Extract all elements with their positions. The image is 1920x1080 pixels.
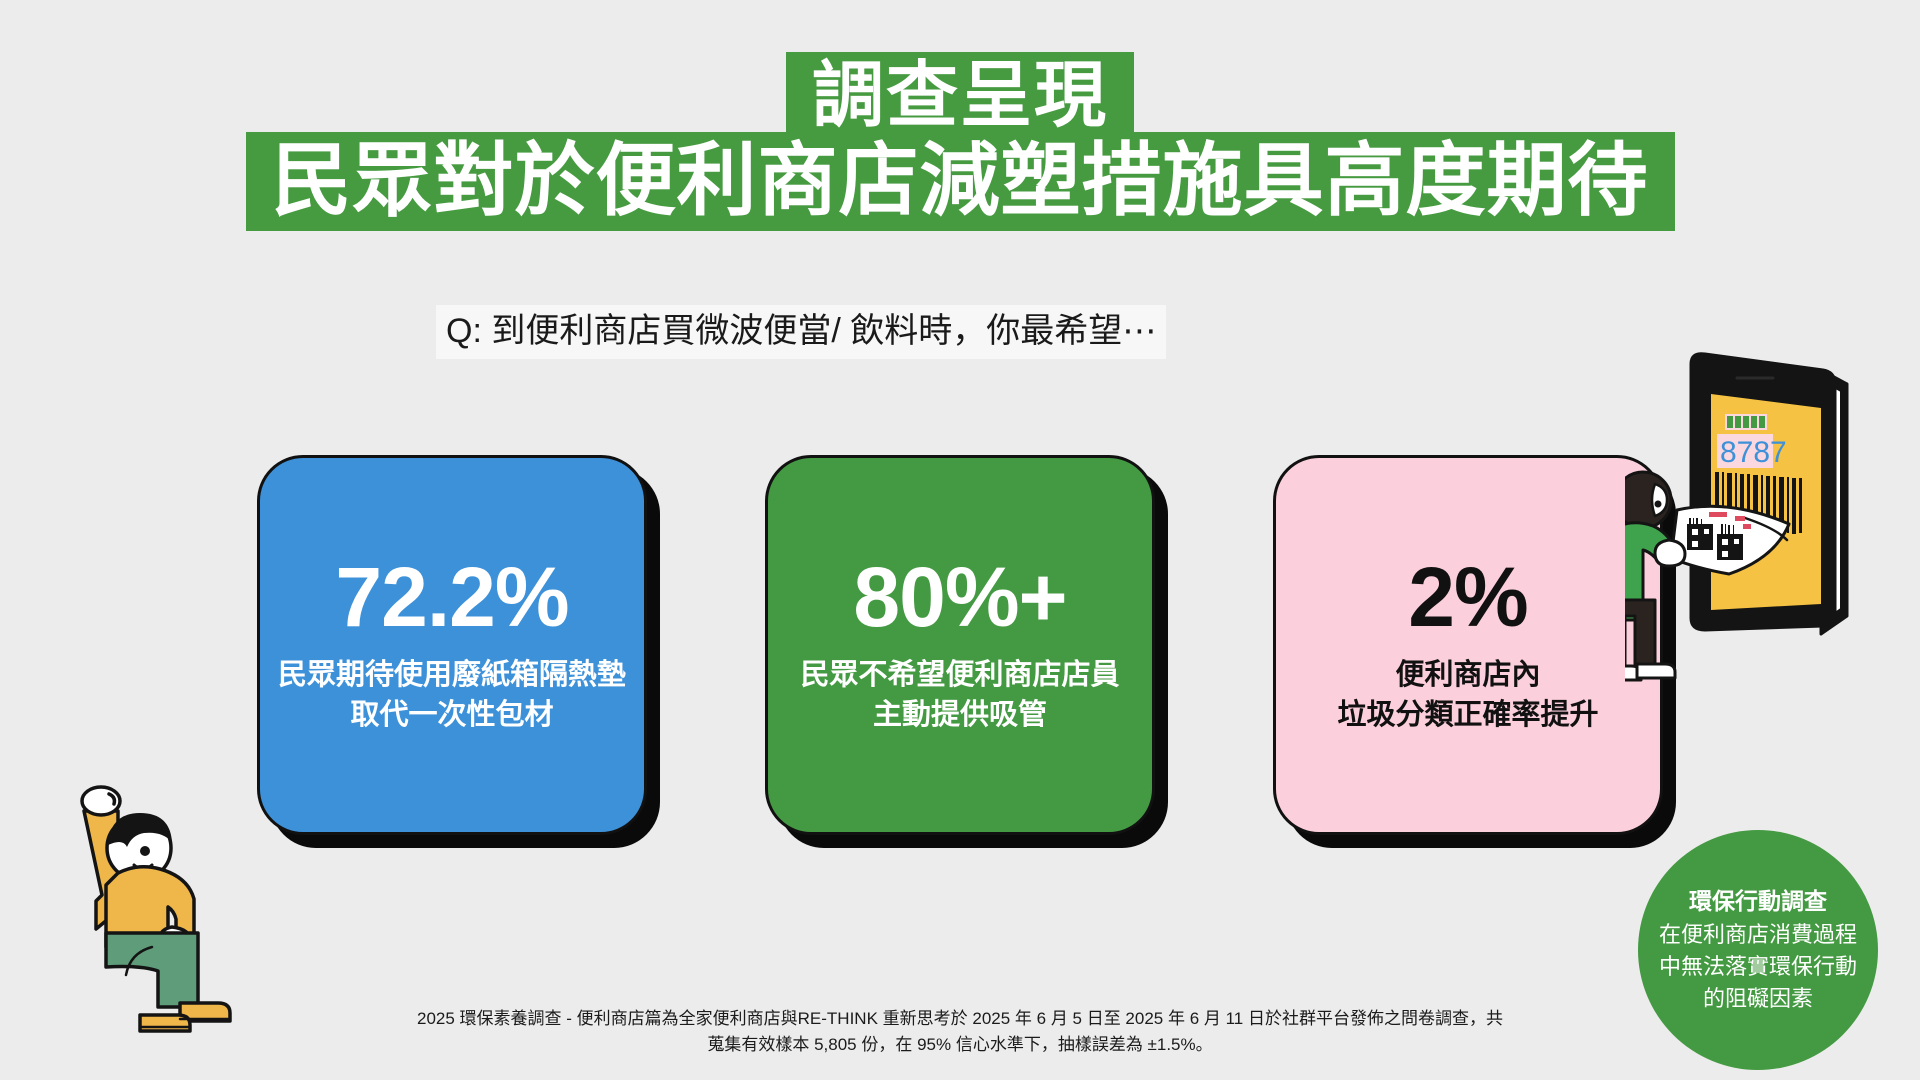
stat-card-recycled-insulation: 72.2% 民眾期待使用廢紙箱隔熱墊 取代一次性包材: [257, 455, 647, 835]
badge-title: 環保行動調查: [1689, 885, 1827, 918]
stat-card-waste-sorting: 2% 便利商店內 垃圾分類正確率提升: [1273, 455, 1663, 835]
kiosk-scanning-illustration: 8787: [1625, 352, 1915, 717]
kiosk-screen-number: 8787: [1720, 436, 1787, 469]
stat-description: 民眾期待使用廢紙箱隔熱墊 取代一次性包材: [278, 655, 626, 735]
stat-description: 民眾不希望便利商店店員 主動提供吸管: [800, 655, 1119, 735]
badge-line-1: 在便利商店消費過程: [1659, 919, 1857, 951]
footnote: 2025 環保素養調查 - 便利商店篇為全家便利商店與RE-THINK 重新思考…: [0, 1006, 1920, 1059]
title-line-1: 調查呈現: [786, 52, 1134, 136]
stat-description-line-2: 取代一次性包材: [278, 695, 626, 735]
seated-person-illustration: [62, 775, 292, 1040]
survey-question: Q: 到便利商店買微波便當/ 飲料時，你最希望⋯: [436, 305, 1166, 359]
stat-description-line-1: 民眾不希望便利商店店員: [800, 655, 1119, 695]
stat-value: 2%: [1408, 555, 1527, 639]
badge-line-2: 中無法落實環保行動: [1659, 951, 1857, 983]
stat-description-line-1: 便利商店內: [1337, 655, 1598, 695]
stat-description-line-2: 垃圾分類正確率提升: [1337, 695, 1598, 735]
stat-description-line-2: 主動提供吸管: [800, 695, 1119, 735]
footnote-line-2: 蒐集有效樣本 5,805 份，在 95% 信心水準下，抽樣誤差為 ±1.5%。: [380, 1032, 1540, 1058]
stat-description-line-1: 民眾期待使用廢紙箱隔熱墊: [278, 655, 626, 695]
stat-value: 72.2%: [335, 555, 568, 639]
footnote-line-1: 2025 環保素養調查 - 便利商店篇為全家便利商店與RE-THINK 重新思考…: [380, 1006, 1540, 1032]
title-line-2: 民眾對於便利商店減塑措施具高度期待: [246, 132, 1675, 230]
seated-person-icon: [62, 775, 292, 1035]
stat-description: 便利商店內 垃圾分類正確率提升: [1337, 655, 1598, 735]
title-block: 調查呈現 民眾對於便利商店減塑措施具高度期待: [0, 52, 1920, 231]
stat-card-no-straws: 80%+ 民眾不希望便利商店店員 主動提供吸管: [765, 455, 1155, 835]
stat-value: 80%+: [853, 555, 1066, 639]
kiosk-person-icon: 8787: [1625, 352, 1915, 712]
